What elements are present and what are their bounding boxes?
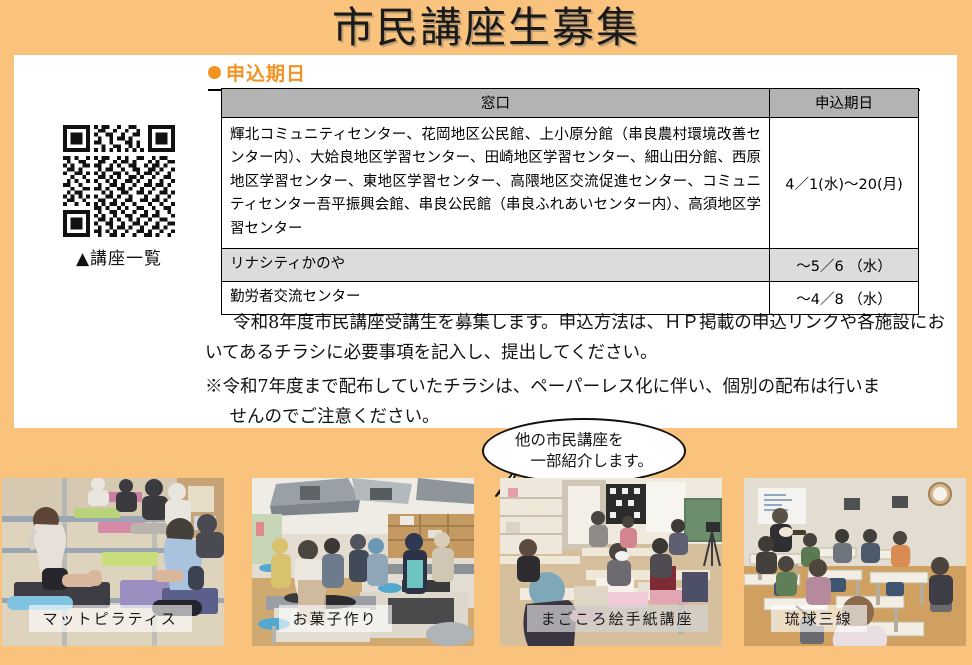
body-text: 令和8年度市民講座受講生を募集します。申込方法は、ＨＰ掲載の申込リンクや各施設に… xyxy=(205,308,945,432)
table-header-venue: 窓口 xyxy=(222,89,770,118)
photo-sweets-making[interactable]: お菓子作り xyxy=(252,478,474,646)
body-paragraph-2-line1: ※令和7年度まで配布していたチラシは、ペーパーレス化に伴い、個別の配布は行いま xyxy=(205,377,880,397)
photo-caption: お菓子作り xyxy=(279,605,392,632)
body-paragraph-1: 令和8年度市民講座受講生を募集します。申込方法は、ＨＰ掲載の申込リンクや各施設に… xyxy=(205,308,945,368)
table-cell-venue: リナシティかのや xyxy=(222,249,770,282)
photo-mat-pilates[interactable]: マットピラティス xyxy=(2,478,224,646)
table-row: リナシティかのや 〜5／6 （水） xyxy=(222,249,919,282)
qr-caption: ▲講座一覧 xyxy=(44,244,194,269)
photo-ryukyu-sanshin[interactable]: 琉球三線 xyxy=(744,478,966,646)
photo-caption: まごころ絵手紙講座 xyxy=(527,605,708,632)
qr-code-icon[interactable] xyxy=(63,125,175,237)
speech-bubble-body: 他の市民講座を 一部紹介します。 xyxy=(482,418,686,484)
table-header-deadline: 申込期日 xyxy=(770,89,919,118)
table-header-row: 窓口 申込期日 xyxy=(222,89,919,118)
table-cell-deadline: 〜5／6 （水） xyxy=(770,249,919,282)
poster-page: 市民講座生募集 xyxy=(0,0,972,665)
photo-caption: マットピラティス xyxy=(29,605,192,632)
bullet-dot-icon xyxy=(208,66,221,79)
table-cell-deadline: 4／1(水)〜20(月) xyxy=(770,118,919,249)
application-deadline-table: 窓口 申込期日 輝北コミュニティセンター、花岡地区公民館、上小原分館（串良農村環… xyxy=(221,88,919,315)
qr-block: ▲講座一覧 xyxy=(44,125,194,269)
table-cell-venue: 輝北コミュニティセンター、花岡地区公民館、上小原分館（串良農村環境改善センター内… xyxy=(222,118,770,249)
section-heading: 申込期日 xyxy=(208,59,920,91)
page-title: 市民講座生募集 xyxy=(332,5,640,51)
title-bar: 市民講座生募集 xyxy=(0,0,972,55)
photo-caption: 琉球三線 xyxy=(771,605,867,632)
speech-bubble-text: 他の市民講座を 一部紹介します。 xyxy=(515,430,653,472)
table-row: 輝北コミュニティセンター、花岡地区公民館、上小原分館（串良農村環境改善センター内… xyxy=(222,118,919,249)
photo-strip: マットピラティス xyxy=(0,478,972,648)
section-heading-label: 申込期日 xyxy=(226,59,306,86)
photo-etegami-course[interactable]: まごころ絵手紙講座 xyxy=(500,478,722,646)
